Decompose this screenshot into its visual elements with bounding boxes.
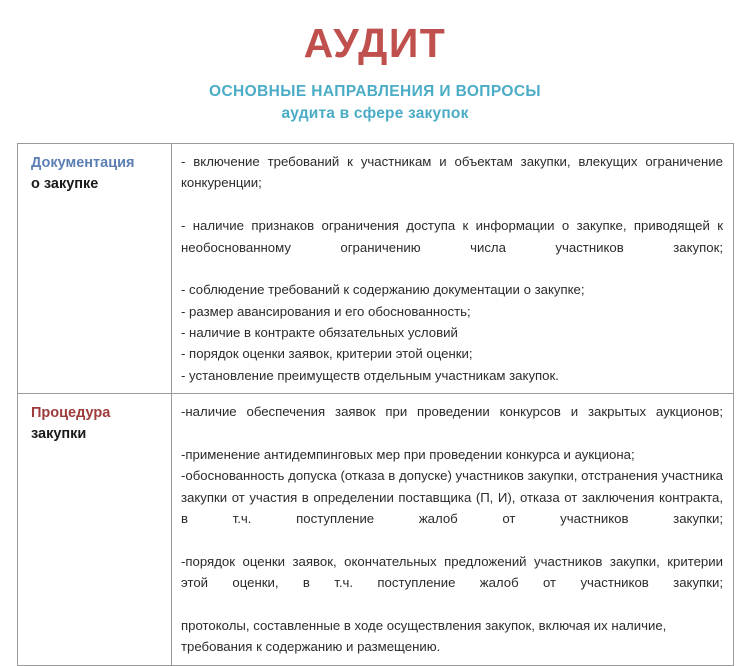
page-title: АУДИТ — [0, 22, 750, 65]
list-item: -обоснованность допуска (отказа в допуск… — [181, 465, 723, 551]
row-header-line-2: о закупке — [31, 174, 171, 195]
page-heading: АУДИТ ОСНОВНЫЕ НАПРАВЛЕНИЯ И ВОПРОСЫ ауд… — [0, 0, 750, 125]
procedure-item-list: -наличие обеспечения заявок при проведен… — [181, 401, 723, 658]
list-item: протоколы, составленные в ходе осуществл… — [181, 615, 723, 658]
audit-directions-table: Документация о закупке - включение требо… — [17, 143, 734, 666]
page-subtitle: ОСНОВНЫЕ НАПРАВЛЕНИЯ И ВОПРОСЫ аудита в … — [0, 82, 750, 125]
list-item: - наличие признаков ограничения доступа … — [181, 215, 723, 279]
list-item: -наличие обеспечения заявок при проведен… — [181, 401, 723, 444]
table-row: Процедура закупки -наличие обеспечения з… — [18, 394, 734, 666]
row-header-cell-procedure: Процедура закупки — [18, 394, 172, 666]
list-item: - установление преимуществ отдельным уча… — [181, 365, 723, 386]
row-header-line-1: Процедура — [31, 403, 171, 424]
subtitle-line-2: аудита в сфере закупок — [0, 103, 750, 125]
audit-infographic-page: АУДИТ ОСНОВНЫЕ НАПРАВЛЕНИЯ И ВОПРОСЫ ауд… — [0, 0, 750, 561]
row-header-line-1: Документация — [31, 153, 171, 174]
list-item: - порядок оценки заявок, критерии этой о… — [181, 343, 723, 364]
row-body-cell-documentation: - включение требований к участникам и об… — [172, 144, 734, 394]
table-row: Документация о закупке - включение требо… — [18, 144, 734, 394]
list-item: -порядок оценки заявок, окончательных пр… — [181, 551, 723, 615]
subtitle-line-1: ОСНОВНЫЕ НАПРАВЛЕНИЯ И ВОПРОСЫ — [0, 82, 750, 103]
row-body-cell-procedure: -наличие обеспечения заявок при проведен… — [172, 394, 734, 666]
list-item: - включение требований к участникам и об… — [181, 151, 723, 215]
list-item: - размер авансирования и его обоснованно… — [181, 301, 723, 322]
row-header-line-2: закупки — [31, 424, 171, 445]
row-header-cell-documentation: Документация о закупке — [18, 144, 172, 394]
list-item: - наличие в контракте обязательных услов… — [181, 322, 723, 343]
list-item: - соблюдение требований к содержанию док… — [181, 279, 723, 300]
documentation-item-list: - включение требований к участникам и об… — [181, 151, 723, 386]
list-item: -применение антидемпинговых мер при пров… — [181, 444, 723, 465]
